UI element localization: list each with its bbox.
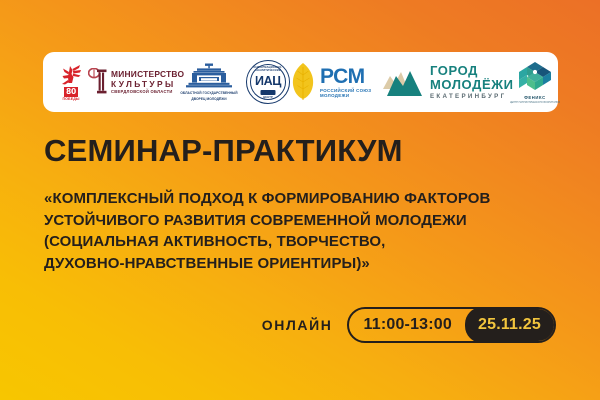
logo-ministerstvo-kultury: МИНИСТЕРСТВО КУЛЬТУРЫ СВЕРДЛОВСКОЙ ОБЛАС… [88, 60, 172, 104]
event-time: 11:00-13:00 [349, 309, 466, 341]
logo-phoenix-title: ФЕНИКС [524, 95, 546, 100]
logo-rsm-abbr: РСМ [320, 66, 371, 87]
schedule-pill: 11:00-13:00 25.11.25 [347, 307, 557, 343]
logo-gorod-molodezhi-line2: МОЛОДЁЖИ [430, 78, 514, 92]
seminar-subtitle-line-3: (СОЦИАЛЬНАЯ АКТИВНОСТЬ, ТВОРЧЕСТВО, [44, 231, 554, 253]
logo-gorod-molodezhi-line1: ГОРОД [430, 64, 514, 78]
seminar-subtitle-line-4: ДУХОВНО-НРАВСТВЕННЫЕ ОРИЕНТИРЫ)» [44, 253, 554, 275]
logo-iac-abbr: ИАЦ [255, 75, 281, 88]
leaf-icon [290, 62, 316, 102]
logo-iac: ИНФОРМАЦИОННО-АНАЛИТИЧЕСКИЙ ИАЦ ЦЕНТР [246, 60, 290, 104]
logo-gorod-molodezhi-text: ГОРОД МОЛОДЁЖИ ЕКАТЕРИНБУРГ [430, 64, 514, 100]
iac-seal-icon: ИНФОРМАЦИОННО-АНАЛИТИЧЕСКИЙ ИАЦ ЦЕНТР [246, 60, 290, 104]
format-label: ОНЛАЙН [262, 317, 333, 333]
logo-dvorets-molodezhi: ОБЛАСТНОЙ ГОСУДАРСТВЕННЫЙ ДВОРЕЦ МОЛОДЁЖ… [172, 60, 246, 104]
logo-rsm-line2: МОЛОДЕЖИ [320, 94, 371, 98]
logo-phoenix-subtitle: ЦЕНТР ПАТРИОТИЧЕСКОГО ВОСПИТАНИЯ [510, 101, 560, 104]
diamond-mosaic-icon [518, 61, 552, 93]
iac-seal-bar [261, 90, 276, 95]
logo-phoenix: ФЕНИКС ЦЕНТР ПАТРИОТИЧЕСКОГО ВОСПИТАНИЯ [510, 60, 560, 104]
page-title: СЕМИНАР-ПРАКТИКУМ [44, 134, 403, 168]
logo-rsm-text: РСМ РОССИЙСКИЙ СОЮЗ МОЛОДЕЖИ [320, 66, 371, 99]
mountains-icon [382, 67, 424, 97]
logo-gorod-molodezhi-line3: ЕКАТЕРИНБУРГ [430, 94, 514, 100]
logo-dvorets-molodezhi-line2: ДВОРЕЦ МОЛОДЁЖИ [191, 97, 226, 101]
seminar-subtitle: «КОМПЛЕКСНЫЙ ПОДХОД К ФОРМИРОВАНИЮ ФАКТО… [44, 188, 554, 274]
column-capital-icon [88, 68, 108, 96]
logo-80-let-pobedy-subtitle: ПОБЕДЫ [62, 97, 79, 101]
seminar-subtitle-line-2: УСТОЙЧИВОГО РАЗВИТИЯ СОВРЕМЕННОЙ МОЛОДЕЖ… [44, 210, 554, 232]
event-details-bar: ОНЛАЙН 11:00-13:00 25.11.25 [44, 305, 556, 345]
logo-rsm: РСМ РОССИЙСКИЙ СОЮЗ МОЛОДЕЖИ [290, 60, 382, 104]
partner-logo-strip: 80 ПОБЕДЫ МИНИСТЕРСТВО КУЛЬТУРЫ СВЕРДЛОВ… [43, 52, 558, 112]
seminar-subtitle-line-1: «КОМПЛЕКСНЫЙ ПОДХОД К ФОРМИРОВАНИЮ ФАКТО… [44, 188, 554, 210]
logo-iac-arc-top: ИНФОРМАЦИОННО-АНАЛИТИЧЕСКИЙ [247, 66, 289, 72]
logo-80-let-pobedy: 80 ПОБЕДЫ [54, 60, 88, 104]
event-date: 25.11.25 [465, 307, 556, 343]
logo-gorod-molodezhi: ГОРОД МОЛОДЁЖИ ЕКАТЕРИНБУРГ [382, 60, 510, 104]
logo-80-let-pobedy-badge: 80 [64, 87, 78, 97]
logo-iac-arc-bottom: ЦЕНТР [247, 96, 289, 99]
poster-canvas: 80 ПОБЕДЫ МИНИСТЕРСТВО КУЛЬТУРЫ СВЕРДЛОВ… [0, 0, 600, 400]
logo-dvorets-molodezhi-line1: ОБЛАСТНОЙ ГОСУДАРСТВЕННЫЙ [180, 91, 237, 95]
building-icon [184, 63, 234, 89]
